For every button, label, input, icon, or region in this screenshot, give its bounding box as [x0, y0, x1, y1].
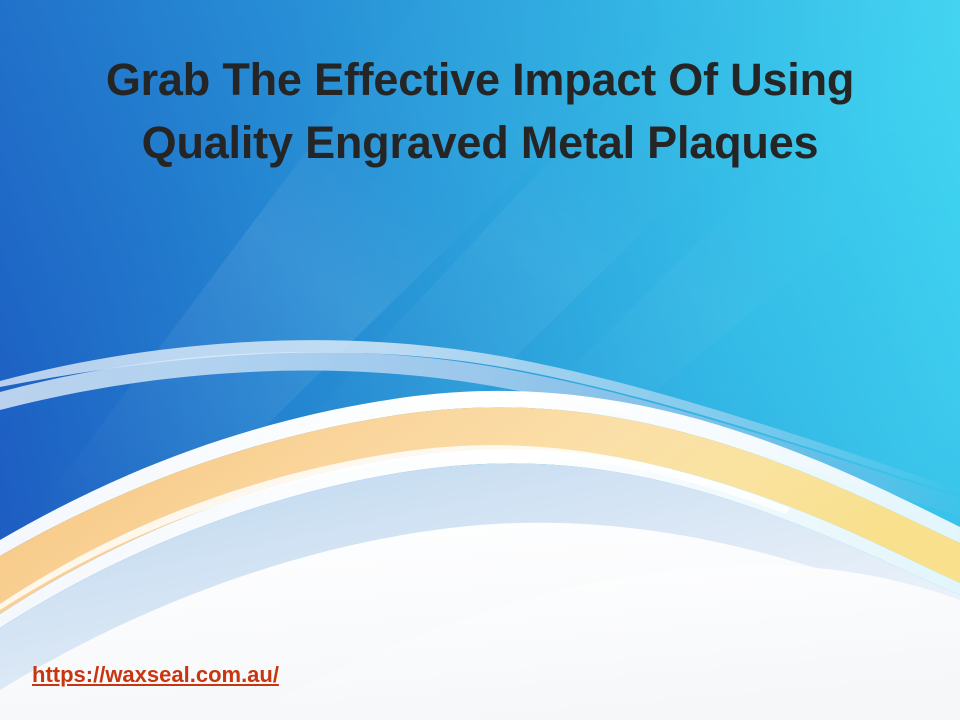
slide-title: Grab The Effective Impact Of Using Quali…: [40, 48, 920, 174]
presentation-slide: Grab The Effective Impact Of Using Quali…: [0, 0, 960, 720]
website-url-link[interactable]: https://waxseal.com.au/: [32, 661, 279, 689]
title-line-1: Grab The Effective Impact Of Using: [40, 48, 920, 111]
title-line-2: Quality Engraved Metal Plaques: [40, 111, 920, 174]
